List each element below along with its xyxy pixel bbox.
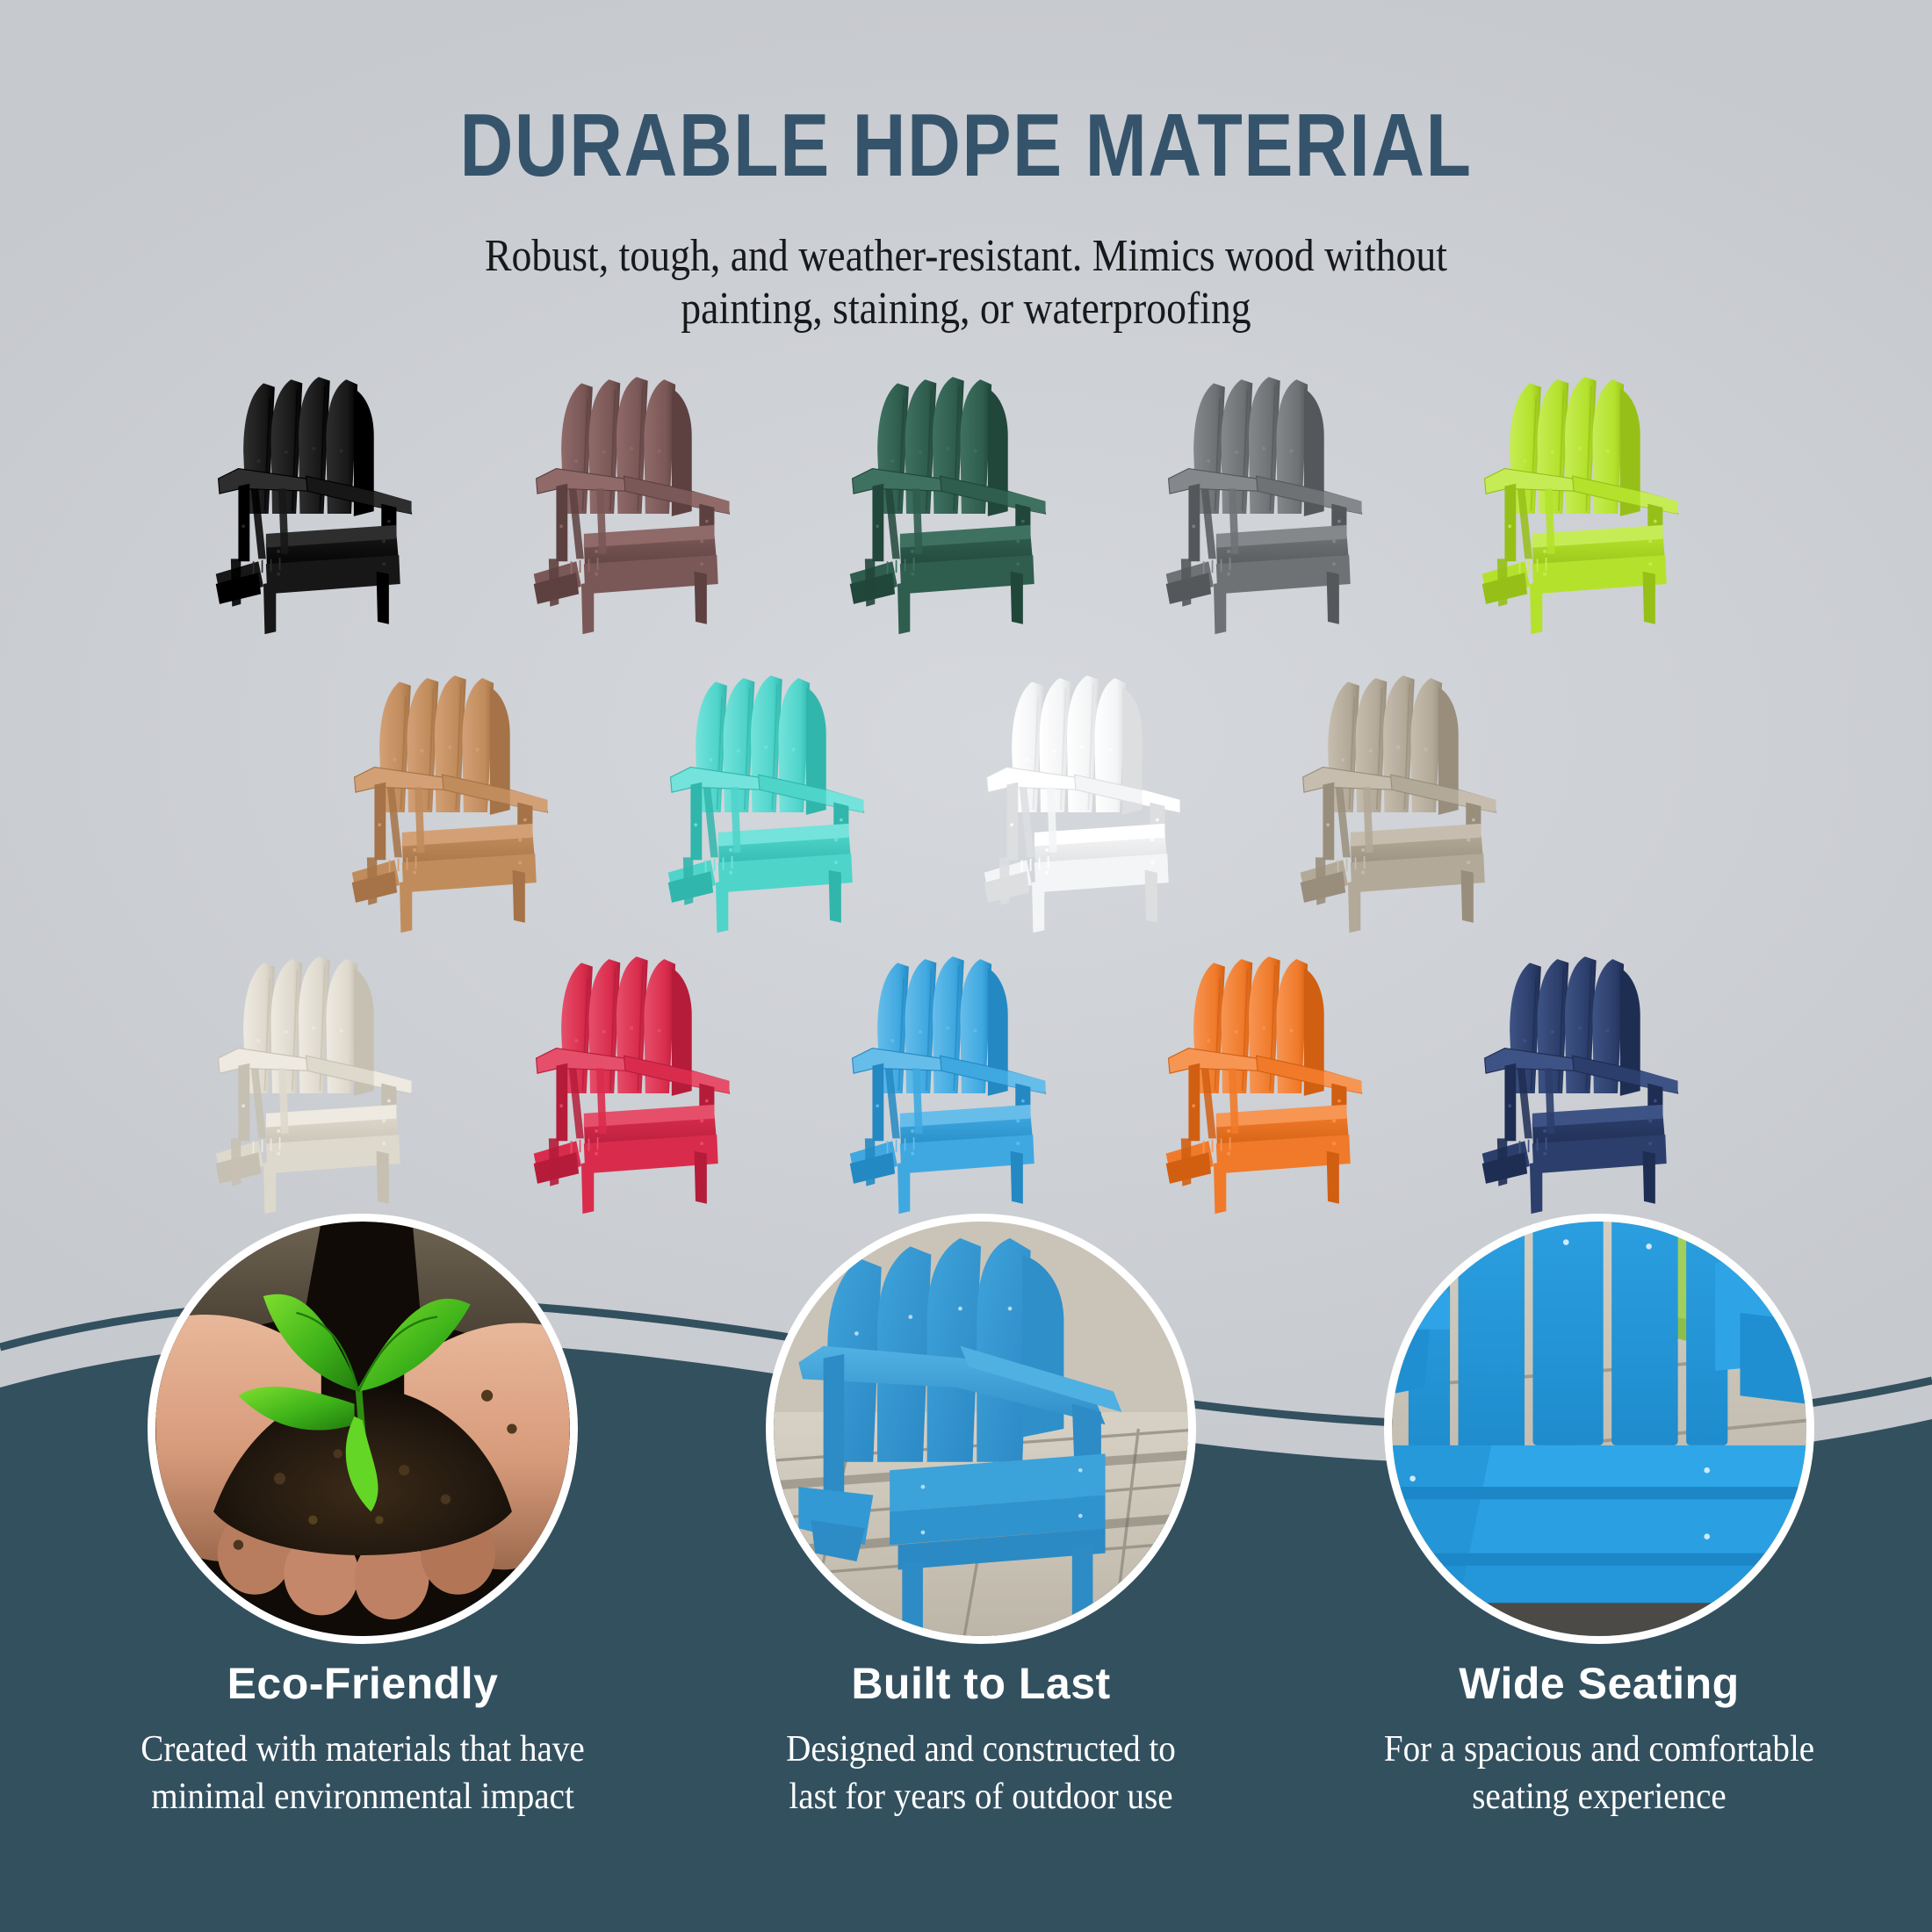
chair-icon <box>520 373 783 637</box>
chair-icon <box>836 373 1099 637</box>
feature-photo-wide-seating <box>1384 1214 1814 1644</box>
chair-swatch[interactable] <box>202 953 465 1216</box>
feature-heading: Built to Last <box>660 1658 1301 1709</box>
chair-icon <box>1468 953 1732 1216</box>
feature-photo-eco-friendly <box>148 1214 578 1644</box>
chair-icon <box>654 672 918 935</box>
chair-swatch[interactable] <box>1468 953 1732 1216</box>
chair-icon <box>1287 672 1550 935</box>
chair-icon <box>202 373 465 637</box>
chair-swatch[interactable] <box>520 373 783 637</box>
chair-swatch[interactable] <box>654 672 918 935</box>
chair-icon <box>202 953 465 1216</box>
feature-body: Designed and constructed to last for yea… <box>660 1727 1301 1821</box>
infographic-canvas: DURABLE HDPE MATERIAL Robust, tough, and… <box>0 0 1932 1932</box>
feature-block-wide-seating: Wide Seating For a spacious and comforta… <box>1279 1658 1920 1821</box>
chair-swatch[interactable] <box>836 373 1099 637</box>
feature-body-line-2: seating experience <box>1301 1774 1898 1821</box>
feature-body-line-1: Designed and constructed to <box>683 1727 1280 1774</box>
chair-swatch[interactable] <box>836 953 1099 1216</box>
feature-heading: Wide Seating <box>1279 1658 1920 1709</box>
feature-body: Created with materials that have minimal… <box>42 1727 683 1821</box>
chair-icon <box>1152 953 1416 1216</box>
feature-photo-built-to-last <box>766 1214 1196 1644</box>
feature-block-eco-friendly: Eco-Friendly Created with materials that… <box>42 1658 683 1821</box>
chair-icon <box>1468 373 1732 637</box>
chair-swatch[interactable] <box>1152 373 1416 637</box>
chair-icon <box>520 953 783 1216</box>
chair-swatch[interactable] <box>338 672 602 935</box>
chair-color-grid <box>0 0 1932 1273</box>
chair-swatch[interactable] <box>1287 672 1550 935</box>
chair-swatch[interactable] <box>970 672 1234 935</box>
feature-body-line-2: last for years of outdoor use <box>683 1774 1280 1821</box>
chair-swatch[interactable] <box>1468 373 1732 637</box>
chair-swatch[interactable] <box>520 953 783 1216</box>
feature-heading: Eco-Friendly <box>42 1658 683 1709</box>
chair-swatch[interactable] <box>1152 953 1416 1216</box>
feature-body: For a spacious and comfortable seating e… <box>1279 1727 1920 1821</box>
feature-body-line-1: For a spacious and comfortable <box>1301 1727 1898 1774</box>
chair-icon <box>338 672 602 935</box>
chair-swatch[interactable] <box>202 373 465 637</box>
chair-icon <box>970 672 1234 935</box>
feature-body-line-1: Created with materials that have <box>65 1727 661 1774</box>
chair-icon <box>1152 373 1416 637</box>
feature-block-built-to-last: Built to Last Designed and constructed t… <box>660 1658 1301 1821</box>
feature-body-line-2: minimal environmental impact <box>65 1774 661 1821</box>
chair-icon <box>836 953 1099 1216</box>
